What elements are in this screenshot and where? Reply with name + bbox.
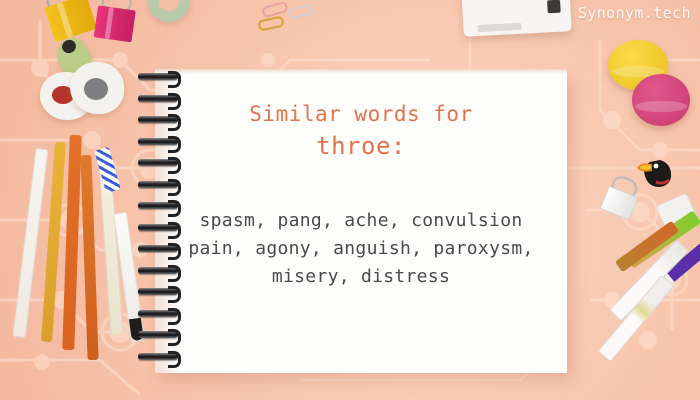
compact-camera — [460, 0, 571, 37]
synonym-row: misery, distress — [155, 263, 567, 291]
binder-clip-pink — [93, 0, 138, 45]
synonym-list: spasm, pang, ache, convulsion pain, agon… — [155, 207, 567, 291]
spiral-coil — [138, 159, 178, 166]
notebook-page: Similar words for throe: spasm, pang, ac… — [155, 73, 567, 373]
spiral-coil — [138, 138, 178, 145]
stone-gray — [70, 62, 124, 114]
headword: throe: — [155, 129, 567, 163]
page-top-edge — [155, 69, 567, 74]
text-block: Similar words for throe: spasm, pang, ac… — [155, 99, 567, 291]
spiral-binding — [138, 67, 182, 379]
spiral-coil — [138, 245, 178, 252]
spiral-coil — [138, 116, 178, 123]
spiral-coil — [138, 73, 178, 80]
site-watermark: Synonym.tech — [578, 4, 691, 22]
page-title: Similar words for — [155, 99, 567, 129]
spiral-coil — [138, 353, 178, 360]
spiral-coil — [138, 288, 178, 295]
toucan-figurine — [636, 152, 678, 190]
spiral-coil — [138, 331, 178, 338]
spiral-coil — [138, 181, 178, 188]
spiral-coil — [138, 95, 178, 102]
desk-scene: Similar words for throe: spasm, pang, ac… — [0, 0, 700, 400]
spiral-coil — [138, 202, 178, 209]
synonym-row: spasm, pang, ache, convulsion — [155, 207, 567, 235]
macaron-pink — [632, 74, 690, 126]
spiral-coil — [138, 310, 178, 317]
spiral-coil — [138, 267, 178, 274]
notebook: Similar words for throe: spasm, pang, ac… — [155, 73, 567, 373]
synonym-row: pain, agony, anguish, paroxysm, — [155, 235, 567, 263]
spiral-coil — [138, 224, 178, 231]
